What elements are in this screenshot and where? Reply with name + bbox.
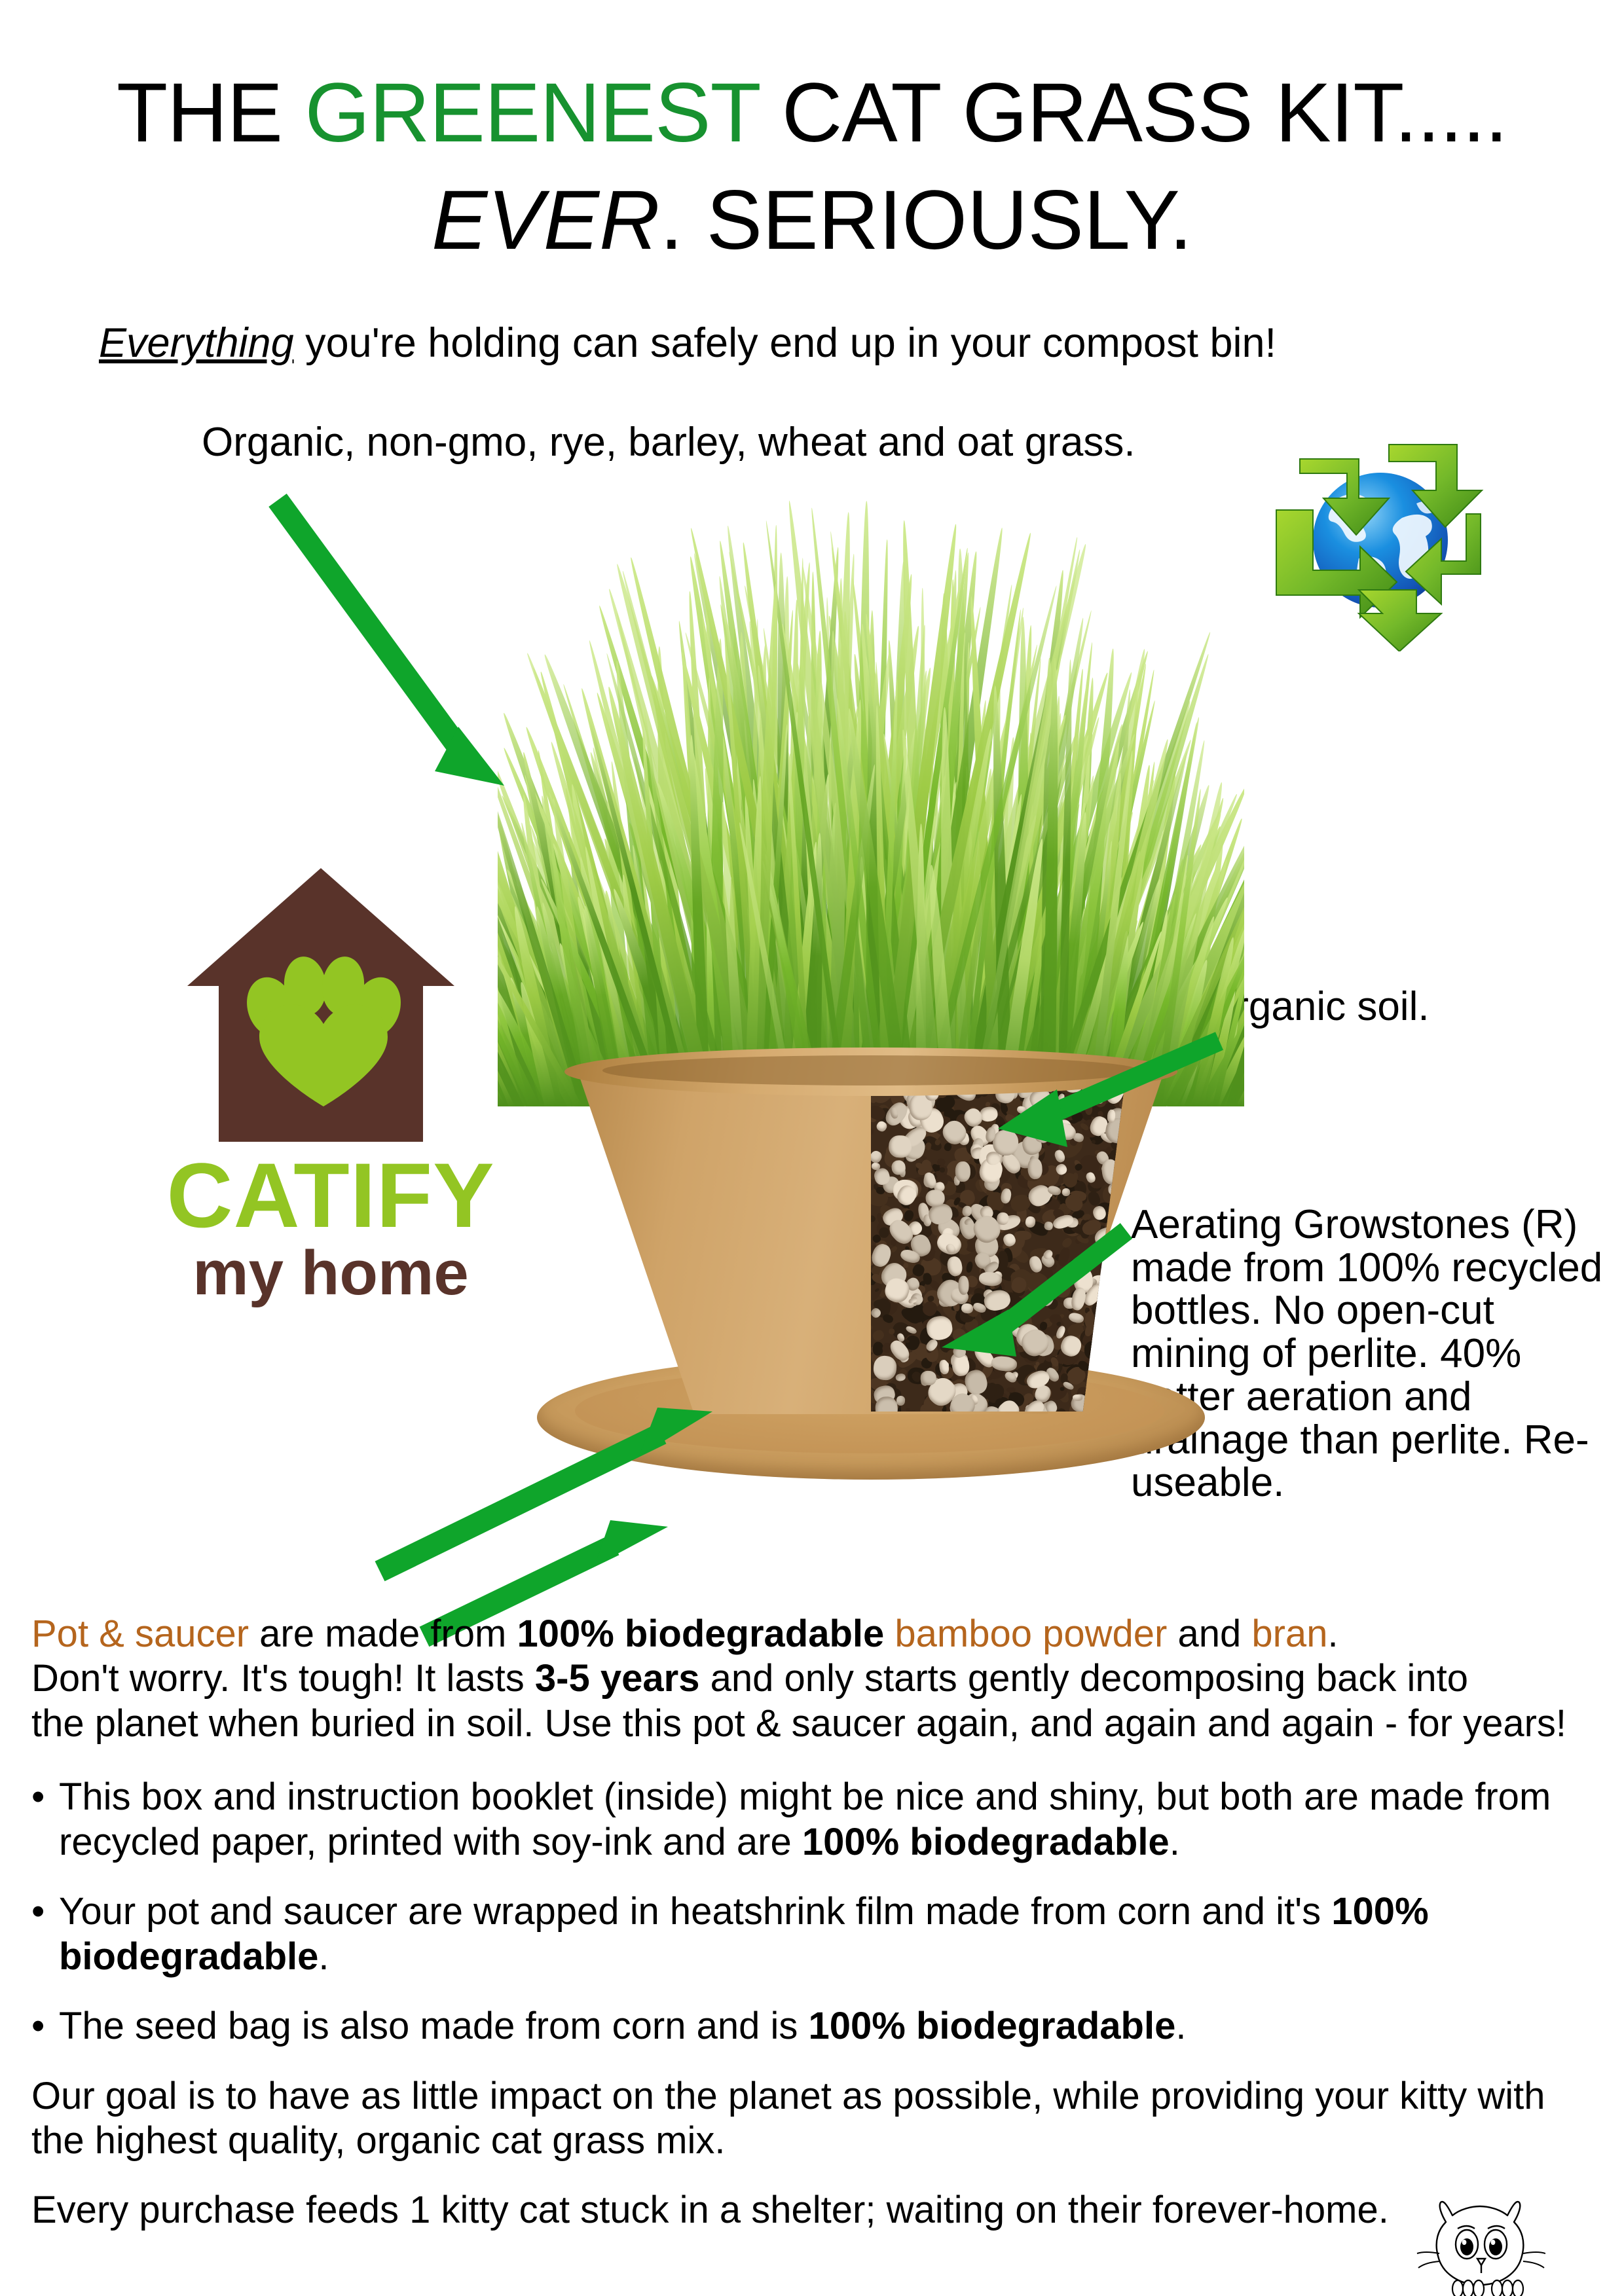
bullet-0-tail: . bbox=[1170, 1821, 1180, 1863]
bullet-marker: • bbox=[31, 1889, 45, 1934]
pot-line2c: and only starts gently decomposing back … bbox=[699, 1657, 1468, 1700]
bullet-2-bold: 100% biodegradable bbox=[808, 2005, 1175, 2047]
bullet-1-tail: . bbox=[318, 1935, 329, 1978]
bullet-1-text: Your pot and saucer are wrapped in heats… bbox=[59, 1890, 1331, 1933]
title-highlight: GREENEST bbox=[305, 66, 760, 160]
page-title: THE GREENEST CAT GRASS KIT..... bbox=[0, 71, 1624, 156]
title-ever: EVER bbox=[432, 173, 660, 267]
pot-and-saucer bbox=[498, 1028, 1244, 1558]
subtitle: Everything you're holding can safely end… bbox=[0, 319, 1375, 367]
list-item: •Your pot and saucer are wrapped in heat… bbox=[31, 1889, 1603, 1979]
pot-saucer-term: Pot & saucer bbox=[31, 1613, 249, 1655]
subtitle-rest: you're holding can safely end up in your… bbox=[294, 320, 1276, 366]
pot-line2a: Don't worry. It's tough! It lasts bbox=[31, 1657, 535, 1700]
goal-paragraph: Our goal is to have as little impact on … bbox=[31, 2074, 1603, 2164]
pot-seg2: are made from bbox=[249, 1613, 517, 1655]
bullet-2-tail: . bbox=[1175, 2005, 1186, 2047]
catify-logo: CATIFY my home bbox=[167, 864, 507, 1349]
pot-bold-years: 3-5 years bbox=[535, 1657, 700, 1700]
logo-tagline-text: my home bbox=[160, 1237, 501, 1309]
pot-saucer-paragraph: Pot & saucer are made from 100% biodegra… bbox=[31, 1612, 1603, 1746]
closing-paragraph: Every purchase feeds 1 kitty cat stuck i… bbox=[31, 2188, 1603, 2232]
pot-line3: the planet when buried in soil. Use this… bbox=[31, 1702, 1566, 1745]
pot-seg5: and bbox=[1167, 1613, 1251, 1655]
recycle-globe-icon bbox=[1261, 435, 1496, 651]
bullet-marker: • bbox=[31, 2004, 45, 2049]
sad-cat-face-icon bbox=[1414, 2193, 1545, 2296]
bamboo-powder-term: bamboo powder bbox=[884, 1613, 1167, 1655]
house-with-paw-heart-icon bbox=[183, 864, 458, 1146]
pot-bold-biodegradable: 100% biodegradable bbox=[517, 1613, 884, 1655]
bullet-0-bold: 100% biodegradable bbox=[802, 1821, 1170, 1863]
page-title-line2: EVER. SERIOUSLY. bbox=[0, 178, 1624, 264]
bullet-marker: • bbox=[31, 1775, 45, 1819]
soil-cross-section bbox=[871, 1071, 1126, 1412]
subtitle-emphasis: Everything bbox=[99, 320, 294, 366]
title-pre: THE bbox=[117, 66, 305, 160]
list-item: •The seed bag is also made from corn and… bbox=[31, 2004, 1603, 2049]
title-post: CAT GRASS KIT..... bbox=[759, 66, 1507, 160]
poster-page: THE GREENEST CAT GRASS KIT..... EVER. SE… bbox=[0, 0, 1624, 2296]
list-item: •This box and instruction booklet (insid… bbox=[31, 1775, 1603, 1865]
pot-seg7: . bbox=[1327, 1613, 1338, 1655]
grass-blades bbox=[498, 452, 1244, 1106]
bullet-list: •This box and instruction booklet (insid… bbox=[31, 1775, 1603, 2049]
bran-term: bran bbox=[1251, 1613, 1327, 1655]
cat-grass-plant-image bbox=[498, 452, 1244, 1558]
bullet-2-text: The seed bag is also made from corn and … bbox=[59, 2005, 808, 2047]
arrow-to-grass bbox=[278, 500, 504, 786]
title-seriously: . SERIOUSLY. bbox=[660, 173, 1192, 267]
logo-brand-text: CATIFY bbox=[160, 1142, 501, 1248]
pot-rim-inner-shadow bbox=[602, 1055, 1139, 1085]
body-copy: Pot & saucer are made from 100% biodegra… bbox=[31, 1612, 1603, 2258]
